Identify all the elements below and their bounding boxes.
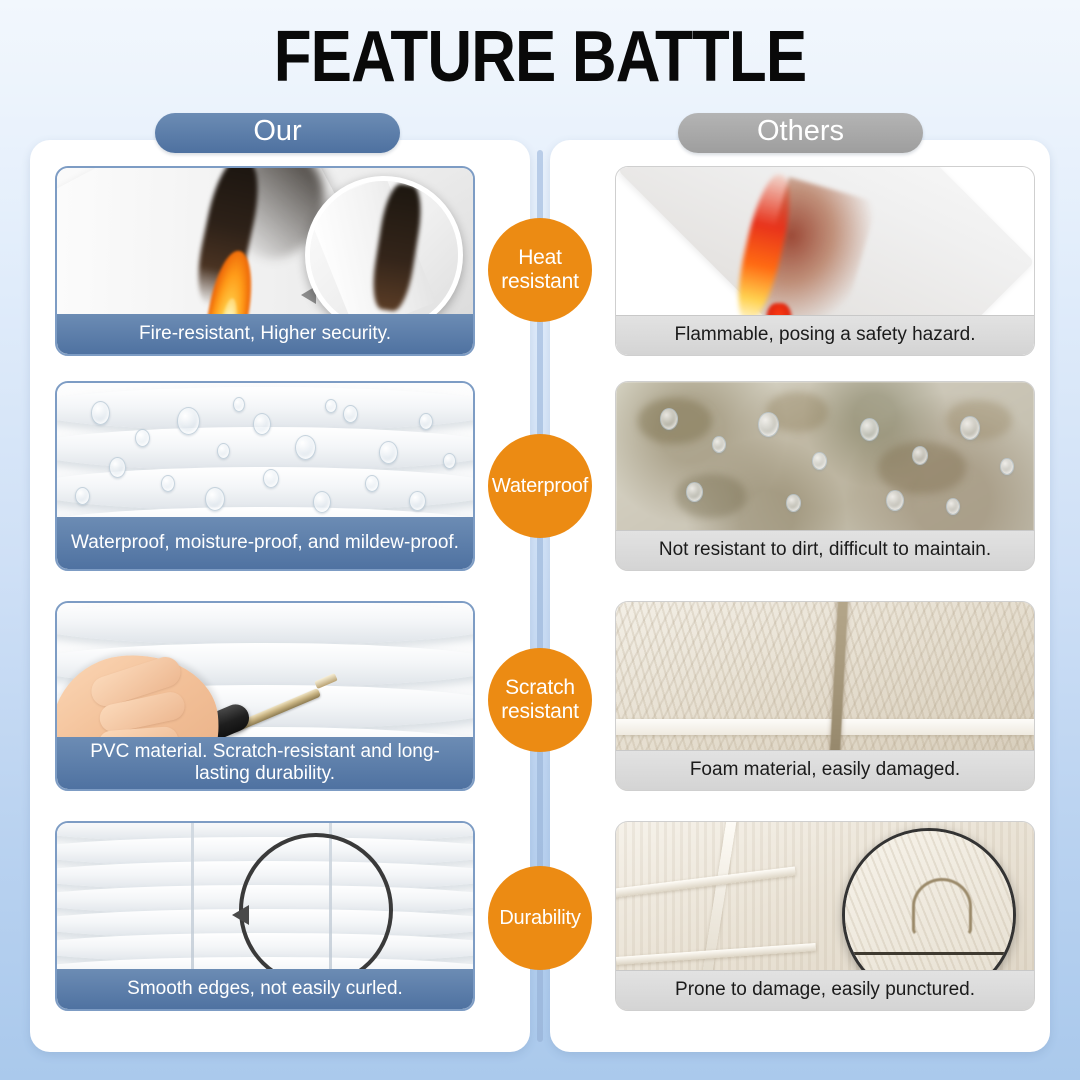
feature-badge-heat-resistant: Heat resistant — [488, 218, 592, 322]
our-card-scratch: PVC material. Scratch-resistant and long… — [55, 601, 475, 791]
pointer-triangle-icon — [232, 905, 249, 925]
our-card-durability: Smooth edges, not easily curled. — [55, 821, 475, 1011]
others-card-durability: Prone to damage, easily punctured. — [615, 821, 1035, 1011]
feature-badge-label: Heat resistant — [488, 246, 592, 293]
others-card-heat: Flammable, posing a safety hazard. — [615, 166, 1035, 356]
others-caption-heat: Flammable, posing a safety hazard. — [616, 315, 1034, 355]
feature-badge-waterproof: Waterproof — [488, 434, 592, 538]
our-column-label: Our — [253, 117, 301, 146]
infographic-canvas: FEATURE BATTLE Our Others Fire-resistant… — [0, 0, 1080, 1080]
page-title: FEATURE BATTLE — [76, 16, 1005, 98]
zoom-circle-icon — [239, 833, 393, 987]
magnifier-inset-icon — [305, 176, 463, 334]
others-caption-scratch: Foam material, easily damaged. — [616, 750, 1034, 790]
our-caption-durability: Smooth edges, not easily curled. — [57, 969, 473, 1009]
others-card-waterproof: Not resistant to dirt, difficult to main… — [615, 381, 1035, 571]
others-column-label: Others — [757, 117, 844, 146]
feature-badge-scratch-resistant: Scratch resistant — [488, 648, 592, 752]
our-caption-scratch: PVC material. Scratch-resistant and long… — [57, 737, 473, 789]
our-caption-waterproof: Waterproof, moisture-proof, and mildew-p… — [57, 517, 473, 569]
our-caption-heat: Fire-resistant, Higher security. — [57, 314, 473, 354]
our-column-badge: Our — [155, 113, 400, 153]
others-card-scratch: Foam material, easily damaged. — [615, 601, 1035, 791]
feature-badge-durability: Durability — [488, 866, 592, 970]
feature-badge-label: Durability — [499, 907, 580, 929]
our-card-waterproof: Waterproof, moisture-proof, and mildew-p… — [55, 381, 475, 571]
our-card-heat: Fire-resistant, Higher security. — [55, 166, 475, 356]
others-column-badge: Others — [678, 113, 923, 153]
others-caption-waterproof: Not resistant to dirt, difficult to main… — [616, 530, 1034, 570]
feature-badge-label: Scratch resistant — [488, 676, 592, 723]
others-caption-durability: Prone to damage, easily punctured. — [616, 970, 1034, 1010]
feature-badge-label: Waterproof — [492, 475, 588, 497]
